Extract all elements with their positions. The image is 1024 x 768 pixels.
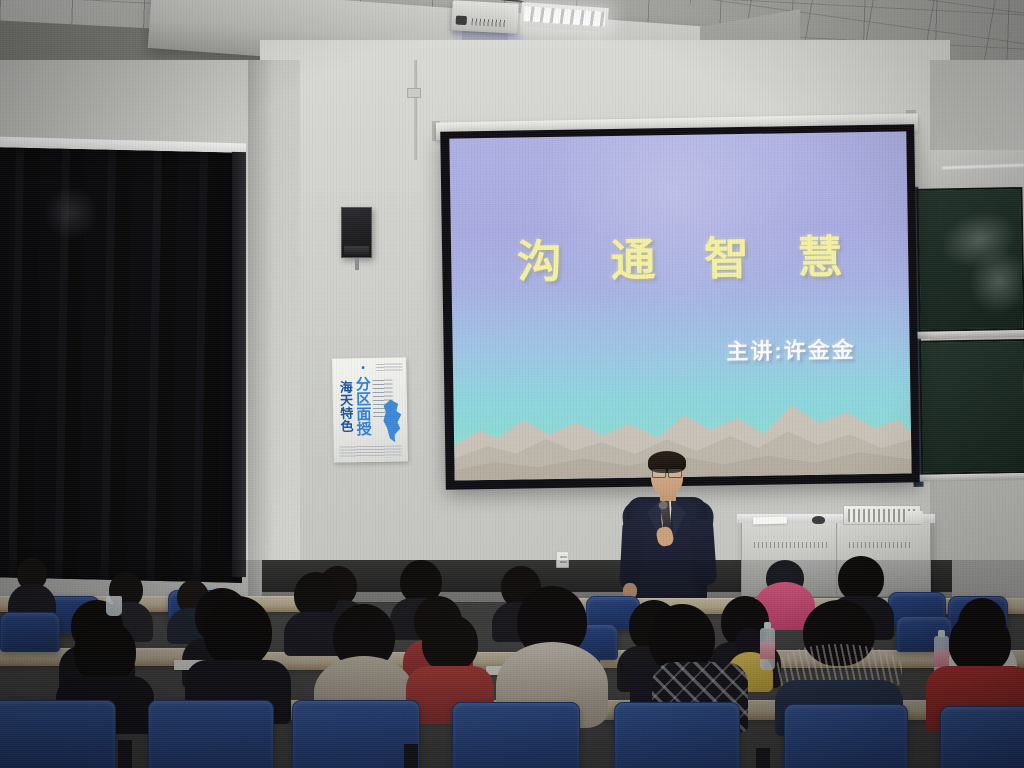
presenter: [617, 447, 717, 612]
poster-logo-icon: ■: [350, 363, 376, 372]
seat-leg: [756, 748, 770, 768]
cup-on-lectern: [906, 511, 923, 524]
seat[interactable]: [452, 702, 580, 768]
poster-header-text-lines: [376, 363, 402, 370]
china-map-icon: [381, 399, 404, 443]
curtain-edge: [232, 152, 246, 577]
poster-headline-left: 海天特色: [338, 380, 352, 432]
poster-headline-right: 分区面授: [354, 376, 370, 436]
lectern-vent: [849, 542, 913, 548]
slide-title: 沟 通 智 慧: [451, 219, 909, 291]
lectern-vent: [754, 542, 829, 548]
projection-screen: 沟 通 智 慧 主讲:许金金: [440, 124, 920, 489]
wall-outlet-icon[interactable]: [556, 551, 569, 568]
blackboard: [902, 187, 1024, 489]
audience-member: [8, 558, 56, 618]
seat-leg: [118, 740, 132, 768]
seat[interactable]: [0, 612, 60, 652]
slide-subtitle: 主讲:许金金: [726, 332, 856, 366]
water-bottle: [760, 628, 775, 670]
presenter-arm-left: [619, 519, 643, 590]
wall-speaker-icon: [341, 207, 372, 258]
wall-poster: ■ 分区面授 海天特色: [332, 357, 408, 462]
seat[interactable]: [614, 702, 740, 768]
curtain-glare: [42, 188, 100, 238]
conduit-junction-box: [407, 88, 421, 98]
chalk-tray: [919, 473, 1024, 482]
blackboard-upper-wall: [900, 150, 1024, 190]
head: [422, 614, 478, 672]
head: [74, 620, 136, 684]
bottle-label: [760, 642, 775, 659]
head: [204, 596, 272, 668]
paper-cup: [106, 596, 122, 616]
seat-leg: [404, 744, 418, 768]
wall-corner-shadow: [248, 60, 274, 605]
seat[interactable]: [784, 704, 908, 768]
presenter-arm-right: [692, 518, 718, 585]
blackboard-panel-lower: [919, 339, 1024, 475]
chalk-tray: [917, 330, 1024, 339]
papers-on-lectern: [753, 517, 787, 525]
seat[interactable]: [292, 700, 420, 768]
poster-footer-text-lines: [340, 445, 402, 458]
lecture-hall-photo: ■ 分区面授 海天特色: [0, 0, 1024, 768]
blackboard-panel-upper: [916, 187, 1024, 332]
glasses-icon: [651, 469, 683, 476]
wall-conduit: [414, 60, 417, 160]
seat[interactable]: [0, 700, 116, 768]
projector-icon: [451, 0, 518, 33]
seat[interactable]: [940, 706, 1024, 768]
speaker-bracket: [355, 258, 359, 270]
projection-screen-surface: 沟 通 智 慧 主讲:许金金: [449, 131, 911, 480]
head: [949, 612, 1011, 674]
lectern-knob[interactable]: [812, 516, 825, 524]
blackout-curtain[interactable]: [0, 147, 242, 583]
seat[interactable]: [148, 700, 274, 768]
